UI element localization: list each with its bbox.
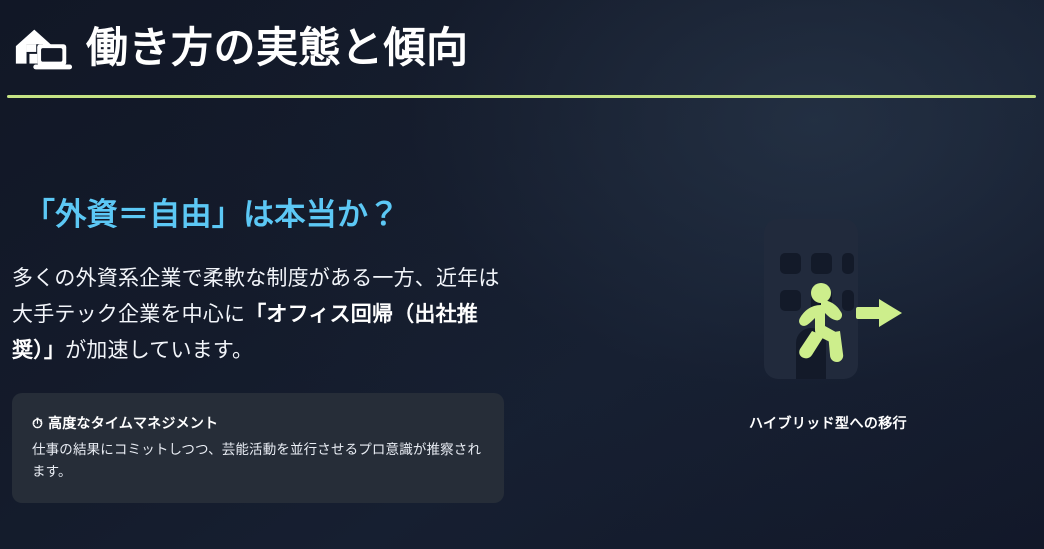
office-building-person-walking-out-arrow-icon [738,215,918,405]
callout-box: ⏱ 高度なタイムマネジメント 仕事の結果にコミットしつつ、芸能活動を並行させるプ… [12,393,504,503]
left-column: 「外資＝自由」は本当か？ 多くの外資系企業で柔軟な制度がある一方、近年は大手テッ… [0,98,540,503]
right-column: ハイブリッド型への移行 [540,98,1044,549]
figure-caption: ハイブリッド型への移行 [723,413,933,433]
content-area: 「外資＝自由」は本当か？ 多くの外資系企業で柔軟な制度がある一方、近年は大手テッ… [0,98,1044,549]
page-header: 働き方の実態と傾向 [0,0,1044,96]
figure-hybrid-shift: ハイブリッド型への移行 [723,215,933,433]
callout-title-text: 高度なタイムマネジメント [48,413,218,433]
lead-heading: 「外資＝自由」は本当か？ [24,196,540,235]
slide-root: 働き方の実態と傾向 「外資＝自由」は本当か？ 多くの外資系企業で柔軟な制度がある… [0,0,1044,549]
callout-body: 仕事の結果にコミットしつつ、芸能活動を並行させるプロ意識が推察されます。 [32,439,482,483]
lead-paragraph: 多くの外資系企業で柔軟な制度がある一方、近年は大手テック企業を中心に「オフィス回… [12,261,506,369]
house-laptop-icon [12,20,74,80]
callout-title: ⏱ 高度なタイムマネジメント [32,413,482,433]
page-title: 働き方の実態と傾向 [86,27,469,69]
stopwatch-icon: ⏱ [32,416,43,430]
lead-paragraph-part2: が加速しています。 [65,339,253,362]
